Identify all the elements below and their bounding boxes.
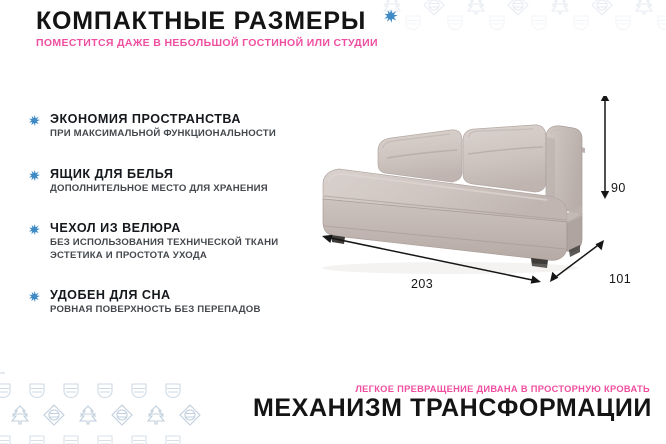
list-item: ЯЩИК ДЛЯ БЕЛЬЯ ДОПОЛНИТЕЛЬНОЕ МЕСТО ДЛЯ … — [28, 167, 328, 196]
blue-asterisk-icon — [28, 169, 41, 182]
page-subtitle: ПОМЕСТИТСЯ ДАЖЕ В НЕБОЛЬШОЙ ГОСТИНОЙ ИЛИ… — [36, 37, 378, 49]
list-item: ЭКОНОМИЯ ПРОСТРАНСТВА ПРИ МАКСИМАЛЬНОЙ Ф… — [28, 112, 328, 141]
blue-asterisk-icon — [28, 290, 41, 303]
feature-description: ДОПОЛНИТЕЛЬНОЕ МЕСТО ДЛЯ ХРАНЕНИЯ — [50, 183, 328, 196]
bottom-banner-title: МЕХАНИЗМ ТРАНСФОРМАЦИИ — [253, 394, 652, 423]
feature-list: ЭКОНОМИЯ ПРОСТРАНСТВА ПРИ МАКСИМАЛЬНОЙ Ф… — [28, 112, 328, 317]
dimension-label-height: 90 — [611, 181, 626, 195]
sofa-illustration-svg — [305, 96, 641, 306]
bottom-banner-subtitle: ЛЕГКОЕ ПРЕВРАЩЕНИЕ ДИВАНА В ПРОСТОРНУЮ К… — [355, 384, 650, 394]
feature-title: УДОБЕН ДЛЯ СНА — [50, 288, 328, 303]
feature-title: ЧЕХОЛ ИЗ ВЕЛЮРА — [50, 221, 328, 236]
list-item: УДОБЕН ДЛЯ СНА РОВНАЯ ПОВЕРХНОСТЬ БЕЗ ПЕ… — [28, 288, 328, 317]
dimension-label-depth: 101 — [609, 272, 631, 286]
feature-description: ПРИ МАКСИМАЛЬНОЙ ФУНКЦИОНАЛЬНОСТИ — [50, 128, 328, 141]
feature-description-line: ДОПОЛНИТЕЛЬНОЕ МЕСТО ДЛЯ ХРАНЕНИЯ — [50, 183, 328, 196]
blue-asterisk-icon — [28, 114, 41, 127]
feature-description-line: ЭСТЕТИКА И ПРОСТОТА УХОДА — [50, 250, 328, 263]
ornament-pattern-top-svg — [382, 0, 666, 40]
feature-description-line: ПРИ МАКСИМАЛЬНОЙ ФУНКЦИОНАЛЬНОСТИ — [50, 128, 328, 141]
bottom-banner: ЛЕГКОЕ ПРЕВРАЩЕНИЕ ДИВАНА В ПРОСТОРНУЮ К… — [0, 370, 666, 444]
feature-description-line: БЕЗ ИСПОЛЬЗОВАНИЯ ТЕХНИЧЕСКОЙ ТКАНИ — [50, 237, 328, 250]
feature-description: БЕЗ ИСПОЛЬЗОВАНИЯ ТЕХНИЧЕСКОЙ ТКАНИ ЭСТЕ… — [50, 237, 328, 262]
header: КОМПАКТНЫЕ РАЗМЕРЫ ПОМЕСТИТСЯ ДАЖЕ В НЕБ… — [36, 6, 378, 49]
list-item: ЧЕХОЛ ИЗ ВЕЛЮРА БЕЗ ИСПОЛЬЗОВАНИЯ ТЕХНИЧ… — [28, 221, 328, 262]
feature-description: РОВНАЯ ПОВЕРХНОСТЬ БЕЗ ПЕРЕПАДОВ — [50, 304, 328, 317]
page-title: КОМПАКТНЫЕ РАЗМЕРЫ — [36, 6, 378, 36]
blue-asterisk-icon — [28, 223, 41, 236]
dimension-label-width: 203 — [411, 277, 433, 291]
feature-title: ЭКОНОМИЯ ПРОСТРАНСТВА — [50, 112, 328, 127]
ornament-pattern-icon — [382, 0, 666, 40]
feature-title: ЯЩИК ДЛЯ БЕЛЬЯ — [50, 167, 328, 182]
sofa-illustration — [305, 96, 641, 306]
feature-description-line: РОВНАЯ ПОВЕРХНОСТЬ БЕЗ ПЕРЕПАДОВ — [50, 304, 328, 317]
blue-asterisk-icon — [383, 8, 399, 24]
product-feature-slide: КОМПАКТНЫЕ РАЗМЕРЫ ПОМЕСТИТСЯ ДАЖЕ В НЕБ… — [0, 0, 666, 444]
